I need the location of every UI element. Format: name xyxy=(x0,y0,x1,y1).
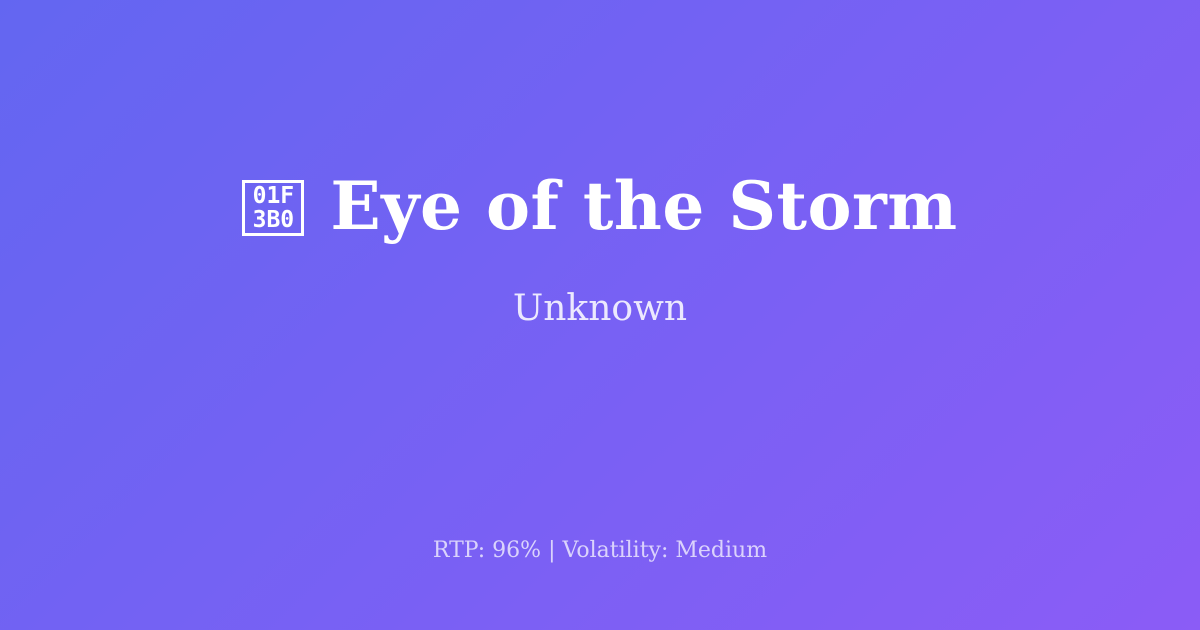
title-row: 01F 3B0 Eye of the Storm xyxy=(242,173,957,239)
page-title: Eye of the Storm xyxy=(330,173,957,239)
slot-machine-icon-codepoint-low: 3B0 xyxy=(253,208,295,232)
card-content: 01F 3B0 Eye of the Storm Unknown xyxy=(0,0,1200,500)
game-stats-footer: RTP: 96% | Volatility: Medium xyxy=(0,540,1200,562)
game-preview-card: 01F 3B0 Eye of the Storm Unknown RTP: 96… xyxy=(0,0,1200,630)
slot-machine-icon-codepoint-high: 01F xyxy=(253,184,295,208)
slot-machine-icon: 01F 3B0 xyxy=(242,180,304,236)
provider-subtitle: Unknown xyxy=(513,291,687,327)
